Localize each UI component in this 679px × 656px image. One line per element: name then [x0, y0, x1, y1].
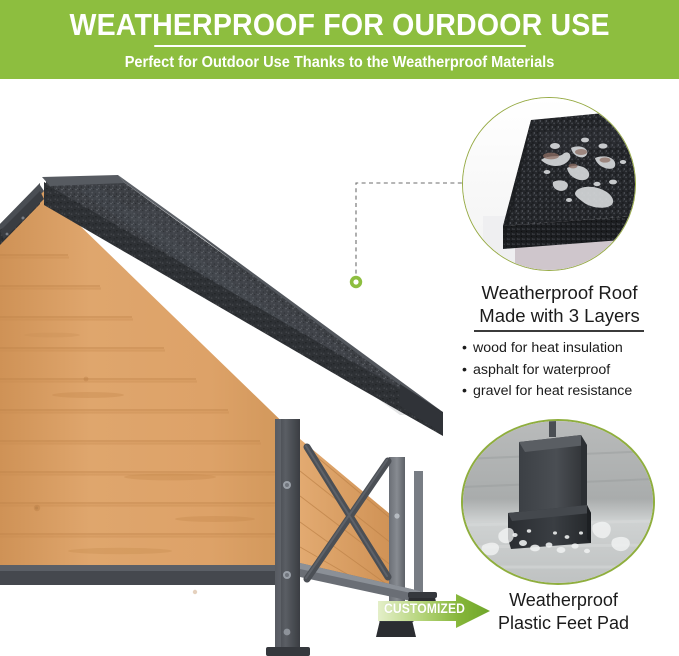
feet-heading-line-2: Plastic Feet Pad [448, 612, 679, 635]
banner-title: WEATHERPROOF FOR OURDOOR USE [69, 9, 609, 42]
feet-callout-heading: Weatherproof Plastic Feet Pad [448, 589, 679, 636]
product-photo-dog-house [0, 79, 470, 656]
roof-layer-list: wood for heat insulation asphalt for wat… [462, 338, 679, 403]
feet-heading-line-1: Weatherproof [448, 589, 679, 612]
header-banner: WEATHERPROOF FOR OURDOOR USE Perfect for… [0, 0, 679, 79]
roof-heading-line-2: Made with 3 Layers [440, 304, 679, 327]
list-item: asphalt for waterproof [462, 360, 679, 382]
list-item: gravel for heat resistance [462, 381, 679, 403]
inset-plastic-feet-pad [461, 419, 655, 585]
promo-image-root: WEATHERPROOF FOR OURDOOR USE Perfect for… [0, 0, 679, 656]
roof-heading-line-1: Weatherproof Roof [440, 281, 679, 304]
inset-weatherproof-roof [462, 97, 636, 271]
banner-underline [154, 45, 526, 48]
roof-callout-heading: Weatherproof Roof Made with 3 Layers [440, 281, 679, 328]
banner-subtitle: Perfect for Outdoor Use Thanks to the We… [125, 54, 555, 72]
roof-heading-underline [474, 330, 644, 332]
list-item: wood for heat insulation [462, 338, 679, 360]
